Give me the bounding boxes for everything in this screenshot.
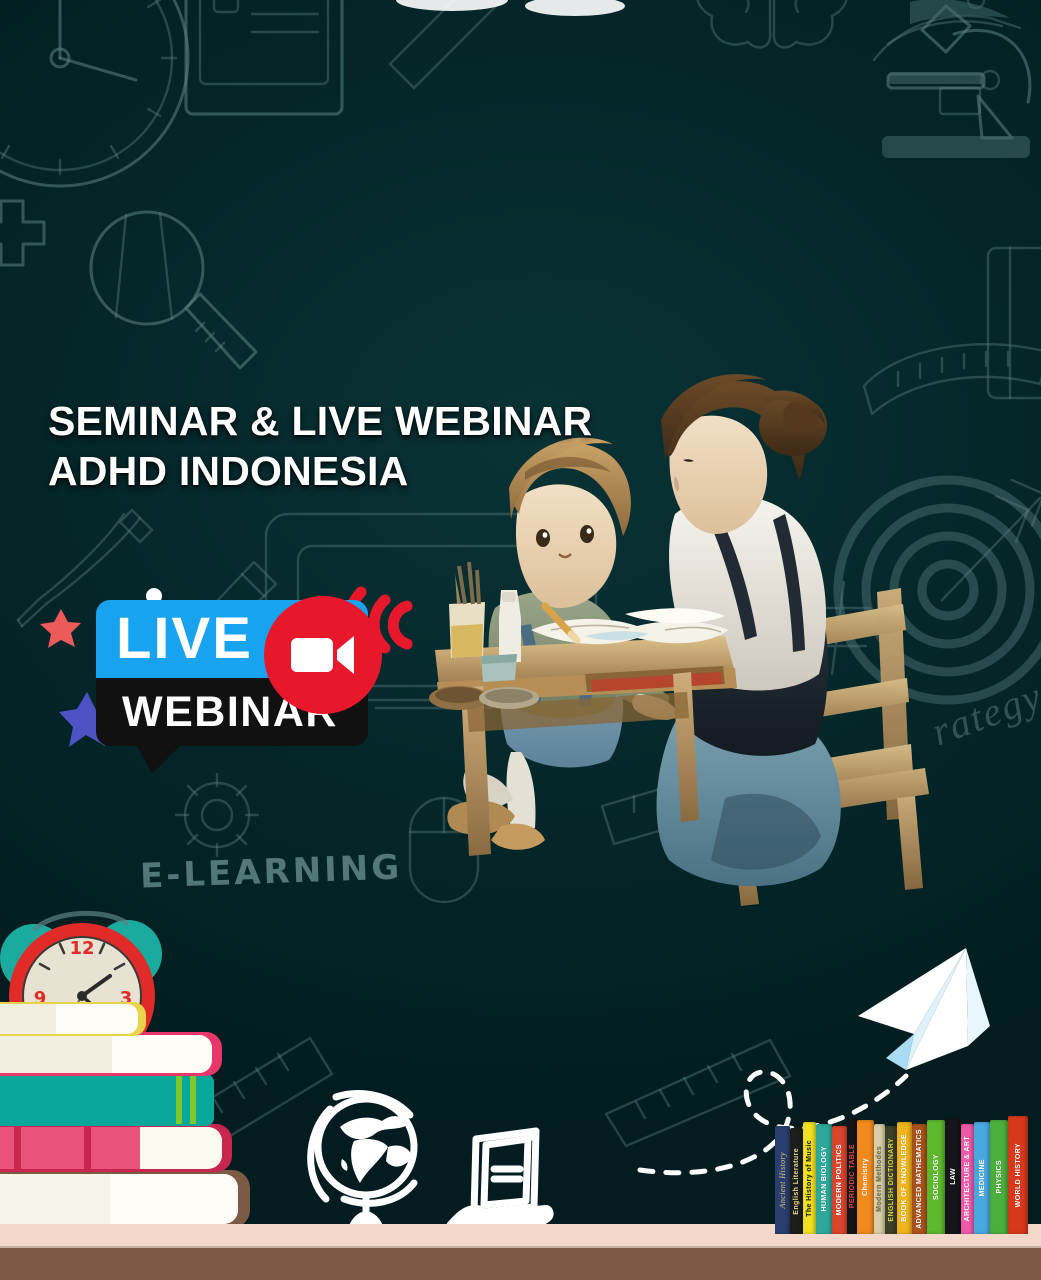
svg-text:12: 12 <box>69 938 94 959</box>
book-spine-title: Ancient History <box>779 1152 787 1208</box>
book-spine-title: The History of Music <box>806 1140 813 1217</box>
live-label: LIVE <box>116 610 253 668</box>
globe-icon <box>300 1085 435 1240</box>
list-item <box>0 1124 232 1172</box>
book-spine-title: PERIODIC TABLE <box>849 1144 856 1208</box>
book-spine: BOOK OF KNOWLEDGE <box>897 1122 912 1234</box>
book-spine: English Literature <box>790 1128 803 1234</box>
book-spine: PHYSICS <box>990 1120 1008 1234</box>
microscope-doodle <box>860 0 1041 178</box>
book-spine: Chemistry <box>857 1120 874 1234</box>
live-webinar-badge[interactable]: LIVE WEBINAR <box>96 588 426 763</box>
book-spine-title: PHYSICS <box>996 1160 1003 1194</box>
book-spine-title: WORLD HISTORY <box>1015 1143 1022 1207</box>
list-item <box>0 1002 146 1036</box>
plus-doodle <box>0 195 50 271</box>
video-camera-icon[interactable] <box>264 596 382 714</box>
chalk-smudge <box>392 0 512 26</box>
book-spine-title: ENGLISH DICTIONARY <box>888 1138 895 1222</box>
book-spine: HUMAN BIOLOGY <box>816 1124 832 1234</box>
book-spine-title: English Literature <box>793 1148 800 1215</box>
list-item <box>0 1170 250 1228</box>
book-spine: ENGLISH DICTIONARY <box>885 1126 897 1234</box>
book-spine: WORLD HISTORY <box>1008 1116 1028 1234</box>
page-title: SEMINAR & LIVE WEBINAR ADHD INDONESIA <box>48 396 688 496</box>
book-spine: PERIODIC TABLE <box>847 1118 857 1234</box>
book-spine-title: HUMAN BIOLOGY <box>821 1146 828 1211</box>
book-spine-title: Chemistry <box>862 1158 869 1196</box>
book-stack <box>0 1000 260 1230</box>
book-spine-title: SOCIOLOGY <box>933 1154 940 1200</box>
poster-canvas: E-LEARNING rategy <box>0 0 1041 1280</box>
pen-doodle <box>380 0 540 80</box>
book-spine-title: LAW <box>950 1168 957 1185</box>
book-doodle <box>870 0 1030 90</box>
book-spine: SOCIOLOGY <box>927 1120 945 1234</box>
book-spine-row: Ancient HistoryEnglish LiteratureThe His… <box>775 1116 1041 1234</box>
list-item <box>0 1074 214 1126</box>
star-red-icon <box>38 606 82 650</box>
book-spine-title: ADVANCED MATHEMATICS <box>916 1129 923 1229</box>
book-spine-title: MODERN POLITICS <box>836 1144 843 1215</box>
title-line-2: ADHD INDONESIA <box>48 446 688 496</box>
book-spine: LAW <box>945 1118 961 1234</box>
book-spine-title: BOOK OF KNOWLEDGE <box>901 1134 908 1222</box>
book-spine: MODERN POLITICS <box>832 1126 847 1234</box>
magnifier-doodle <box>80 205 280 390</box>
clipboard-doodle <box>178 0 358 128</box>
book-spine-title: Modern Methodes <box>876 1146 883 1212</box>
book-spine: Modern Methodes <box>874 1124 885 1234</box>
book-spine: MEDICINE <box>974 1122 990 1234</box>
notebook-doodle <box>980 240 1041 410</box>
wall-clock-doodle <box>0 0 210 208</box>
list-item <box>0 1032 222 1076</box>
book-spine-title: ARCHITECTURE & ART <box>964 1136 971 1222</box>
brain-doodle <box>672 0 872 110</box>
speech-bubble-tail <box>136 744 182 774</box>
title-line-1: SEMINAR & LIVE WEBINAR <box>48 398 592 444</box>
book-spine: ADVANCED MATHEMATICS <box>912 1124 927 1234</box>
chalk-smudge-2 <box>520 0 630 30</box>
book-spine: ARCHITECTURE & ART <box>961 1124 974 1234</box>
shelf-front <box>0 1248 1041 1280</box>
book-spine-title: MEDICINE <box>979 1159 986 1196</box>
book-spine: The History of Music <box>803 1122 816 1234</box>
book-spine: Ancient History <box>775 1126 790 1234</box>
e-learning-label: E-LEARNING <box>139 847 402 896</box>
